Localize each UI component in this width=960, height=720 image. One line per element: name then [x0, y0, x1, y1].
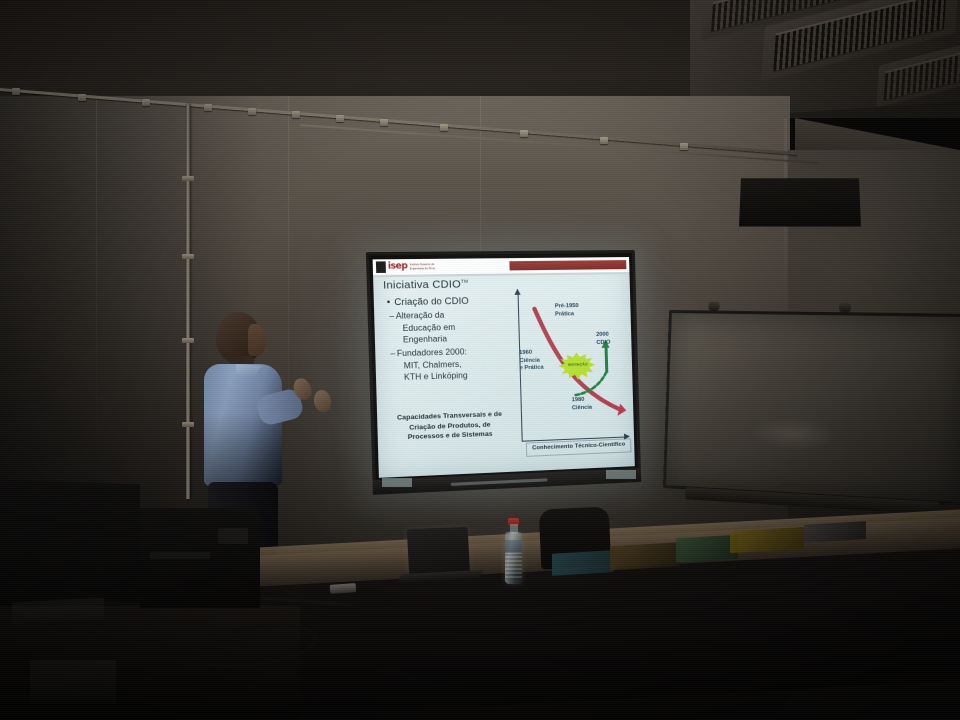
annotation-line: Prática	[555, 311, 579, 319]
lecture-room-photo: isep Instituto Superior de Engenharia do…	[0, 0, 960, 720]
bullet-level2: –Alteração da Educação em Engenharia	[387, 309, 506, 347]
presentation-slide: isep Instituto Superior de Engenharia do…	[373, 257, 635, 478]
conduit-clamp	[182, 422, 194, 427]
bullet-line: Fundadores 2000:	[397, 347, 467, 358]
conduit-clamp	[142, 99, 150, 106]
conduit-clamp	[248, 108, 256, 115]
chart-starburst-label: INOVAÇÃO	[565, 362, 591, 367]
chart-annotation-1980: 1980 Ciência	[572, 397, 593, 413]
trademark-mark: TM	[461, 279, 468, 284]
conduit-clamp	[440, 124, 448, 131]
annotation-line: e Prática	[520, 365, 544, 373]
whiteboard-knob	[709, 301, 720, 310]
whiteboard-stand	[739, 178, 861, 226]
slide-bullet-list: •Criação do CDIO –Alteração da Educação …	[387, 295, 508, 384]
equipment-box	[30, 660, 116, 704]
bullet-text: Criação do CDIO	[394, 296, 469, 308]
brochure[interactable]	[676, 535, 738, 563]
bullet-level2: –Fundadores 2000: MIT, Chalmers, KTH e L…	[388, 345, 507, 383]
whiteboard[interactable]	[663, 310, 960, 506]
annotation-line: Pré-1950	[555, 303, 579, 311]
conduit-clamp	[12, 88, 20, 95]
header-red-bar	[509, 260, 626, 270]
screen-mount-tab	[606, 470, 636, 479]
laptop-screen[interactable]	[407, 527, 470, 576]
conduit-clamp	[182, 254, 194, 259]
pc-tower-drive-slot[interactable]	[150, 552, 210, 559]
projection-screen[interactable]: isep Instituto Superior de Engenharia do…	[366, 250, 641, 495]
isep-logo: isep Instituto Superior de Engenharia do…	[388, 262, 446, 271]
laptop[interactable]	[400, 528, 476, 582]
conduit-clamp	[380, 119, 388, 126]
remote-control[interactable]	[330, 583, 357, 594]
bullet-line: Engenharia	[396, 332, 506, 346]
pc-tower-badge	[218, 528, 248, 544]
whiteboard-glare	[752, 416, 835, 451]
isep-logo-wordmark: isep	[388, 262, 408, 271]
bottle-ribs	[505, 552, 522, 580]
brochure[interactable]	[552, 550, 614, 576]
bullet-level1: •Criação do CDIO	[387, 295, 506, 309]
header-black-block	[376, 261, 386, 273]
conduit-clamp	[204, 104, 212, 111]
chart-annotation-1960: 1960 Ciência e Prática	[519, 349, 544, 373]
conduit-clamp	[292, 111, 300, 118]
water-bottle[interactable]	[505, 518, 522, 584]
conduit-clamp	[680, 143, 688, 150]
slide-caption: Capacidades Transversais e de Criação de…	[384, 409, 516, 443]
ceiling-dark-area	[0, 0, 700, 80]
annotation-line: 2000	[596, 332, 610, 340]
conduit-clamp	[78, 94, 86, 101]
isep-logo-subtitle: Instituto Superior de Engenharia do Port…	[410, 263, 446, 270]
whiteboard-handle[interactable]	[779, 482, 823, 490]
annotation-line: CDIO	[596, 339, 610, 347]
conduit-clamp	[520, 130, 528, 137]
whiteboard-knob	[839, 303, 851, 313]
conduit-clamp	[182, 338, 194, 343]
chart-annotation-2000: 2000 CDIO	[596, 332, 610, 348]
conduit-clamp	[600, 137, 608, 144]
presenter-hand-right	[313, 389, 332, 413]
brochure[interactable]	[610, 542, 680, 570]
brochure[interactable]	[804, 521, 866, 543]
annotation-line: Ciência	[572, 404, 592, 412]
brochure[interactable]	[730, 527, 804, 553]
screen-mount-tab	[382, 478, 412, 487]
bullet-line: Alteração da	[396, 311, 445, 321]
chart-annotation-pre1950: Pré-1950 Prática	[555, 303, 579, 319]
presenter-face	[248, 324, 266, 356]
slide-title-text: Iniciativa CDIO	[383, 278, 461, 292]
computer-monitor[interactable]	[0, 480, 140, 603]
slide-title: Iniciativa CDIOTM	[383, 278, 469, 292]
slide-chart: INOVAÇÃO Pré-1950 Prática 1960 Ciência e…	[511, 289, 627, 458]
screen-bezel-highlight	[450, 478, 547, 486]
bullet-line: KTH e Linköping	[397, 369, 507, 384]
presenter-shirt-shading	[204, 364, 282, 486]
whiteboard-surface[interactable]	[663, 310, 960, 506]
wall-conduit-vertical	[186, 104, 190, 499]
conduit-clamp	[336, 115, 344, 122]
conduit-clamp	[182, 176, 194, 181]
